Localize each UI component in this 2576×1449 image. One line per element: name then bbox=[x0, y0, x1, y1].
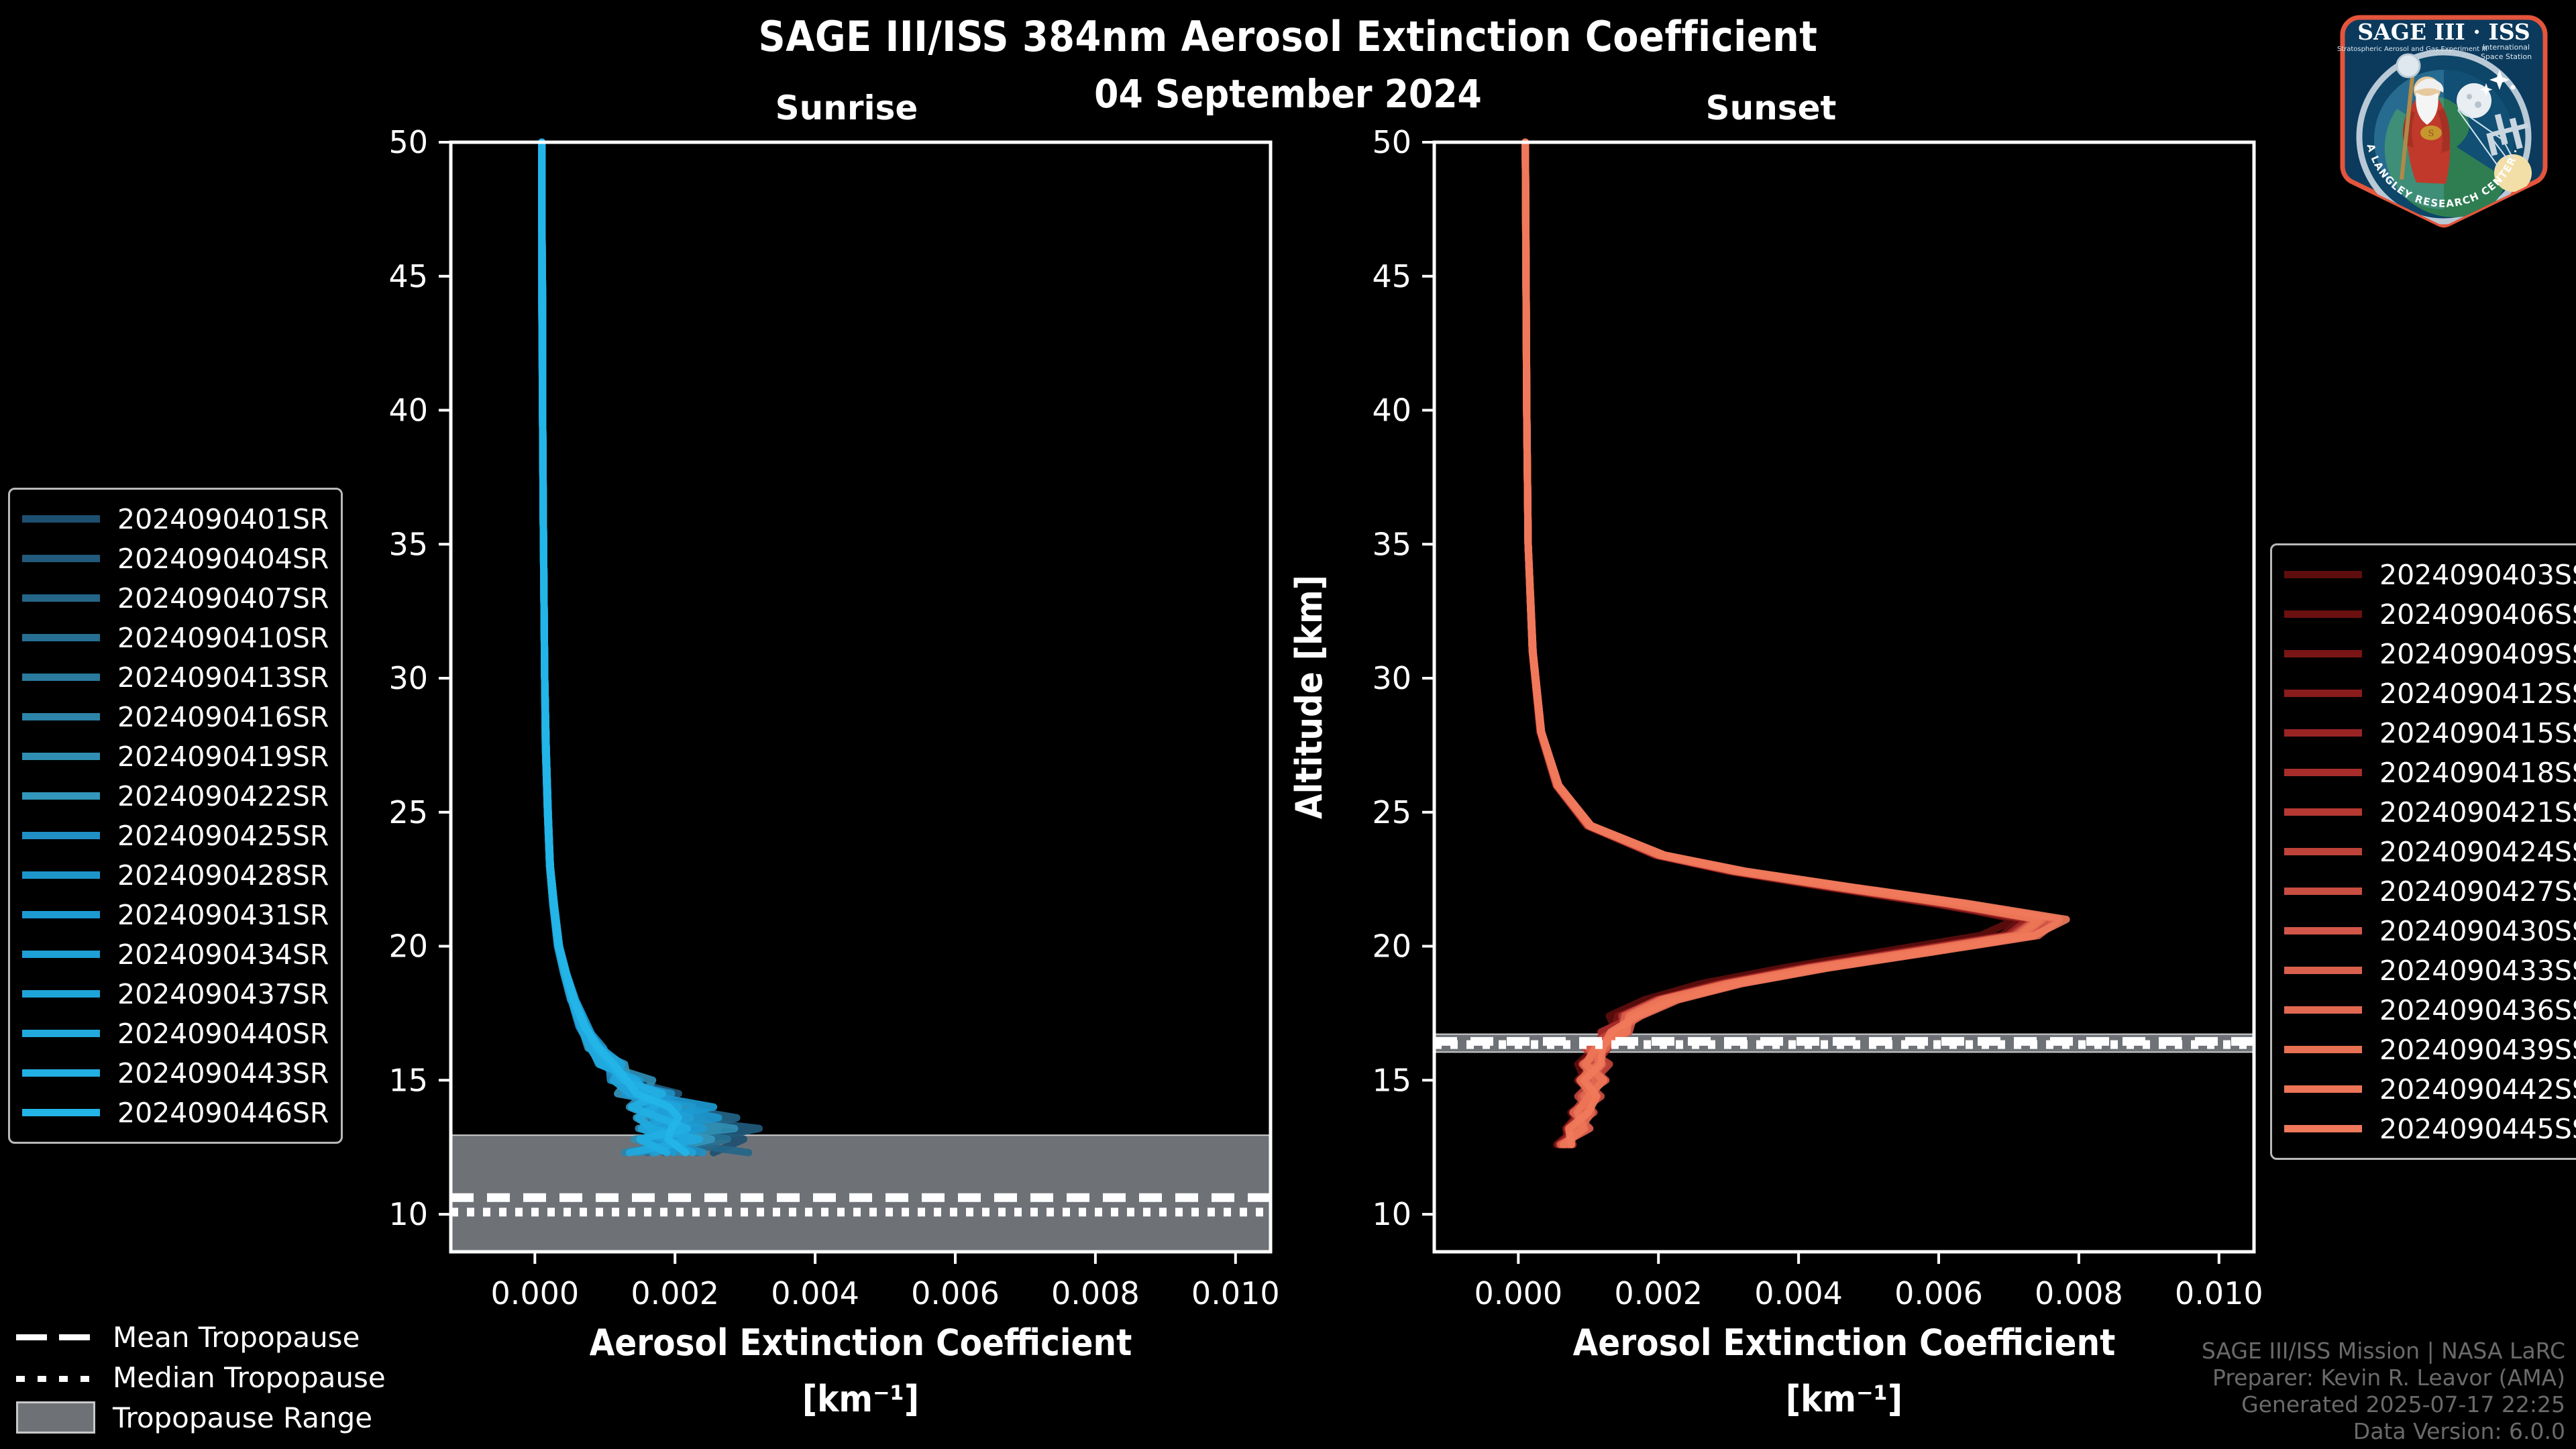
series-color-swatch-icon bbox=[2284, 927, 2362, 934]
dotted-line-icon bbox=[16, 1368, 95, 1386]
series-label: 2024090437SR bbox=[117, 978, 329, 1010]
series-color-swatch-icon bbox=[2284, 729, 2362, 737]
series-label: 2024090415SS bbox=[2379, 717, 2576, 749]
series-label: 2024090413SR bbox=[117, 661, 329, 694]
series-label: 2024090424SS bbox=[2379, 836, 2576, 868]
legend-sunrise-item[interactable]: 2024090416SR bbox=[22, 697, 329, 737]
series-label: 2024090418SS bbox=[2379, 757, 2576, 789]
series-color-swatch-icon bbox=[2284, 769, 2362, 776]
footer-line-preparer: Preparer: Kevin R. Leavor (AMA) bbox=[2202, 1364, 2565, 1391]
legend-sunset-item[interactable]: 2024090403SS bbox=[2284, 555, 2576, 594]
series-color-swatch-icon bbox=[22, 911, 100, 918]
x-axis-unit: [km⁻¹] bbox=[802, 1378, 919, 1420]
legend-sunset-item[interactable]: 2024090409SS bbox=[2284, 634, 2576, 674]
series-label: 2024090409SS bbox=[2379, 638, 2576, 670]
series-color-swatch-icon bbox=[22, 832, 100, 839]
footer-line-mission: SAGE III/ISS Mission | NASA LaRC bbox=[2202, 1338, 2565, 1364]
series-color-swatch-icon bbox=[22, 555, 100, 562]
series-label: 2024090445SS bbox=[2379, 1113, 2576, 1145]
series-label: 2024090406SS bbox=[2379, 598, 2576, 631]
legend-sunset-item[interactable]: 2024090406SS bbox=[2284, 594, 2576, 634]
series-label: 2024090440SR bbox=[117, 1018, 329, 1050]
series-line bbox=[542, 142, 686, 1152]
x-tick-label: 0.006 bbox=[911, 1275, 1000, 1311]
x-tick-label: 0.002 bbox=[631, 1275, 719, 1311]
series-line bbox=[542, 142, 690, 1152]
legend-item-tropopause-range: Tropopause Range bbox=[16, 1397, 386, 1438]
series-color-swatch-icon bbox=[2284, 967, 2362, 974]
legend-sunset-item[interactable]: 2024090421SS bbox=[2284, 792, 2576, 832]
series-color-swatch-icon bbox=[2284, 610, 2362, 618]
legend-sunset-item[interactable]: 2024090445SS bbox=[2284, 1109, 2576, 1148]
series-line bbox=[542, 142, 703, 1152]
y-tick-label: 25 bbox=[388, 794, 428, 830]
legend-sunset[interactable]: 2024090403SS2024090406SS2024090409SS2024… bbox=[2270, 543, 2576, 1160]
x-tick-label: 0.010 bbox=[1191, 1275, 1280, 1311]
legend-label-median: Median Tropopause bbox=[113, 1361, 386, 1394]
series-color-swatch-icon bbox=[22, 951, 100, 958]
x-tick-label: 0.008 bbox=[1051, 1275, 1140, 1311]
series-color-swatch-icon bbox=[2284, 1046, 2362, 1053]
chart-sunrise: 0.0000.0020.0040.0060.0080.0101015202530… bbox=[0, 0, 2576, 1449]
series-line bbox=[542, 142, 688, 1152]
series-color-swatch-icon bbox=[22, 753, 100, 760]
y-tick-label: 30 bbox=[388, 660, 428, 696]
series-color-swatch-icon bbox=[22, 674, 100, 681]
series-label: 2024090442SS bbox=[2379, 1073, 2576, 1106]
series-line bbox=[542, 142, 693, 1152]
x-tick-label: 0.004 bbox=[771, 1275, 859, 1311]
legend-sunset-item[interactable]: 2024090424SS bbox=[2284, 832, 2576, 871]
series-label: 2024090412SS bbox=[2379, 678, 2576, 710]
legend-sunrise-item[interactable]: 2024090443SR bbox=[22, 1053, 329, 1093]
legend-label-range: Tropopause Range bbox=[113, 1401, 372, 1434]
footer-line-generated: Generated 2025-07-17 22:25 bbox=[2202, 1391, 2565, 1418]
logo-brand: SAGE III · ISS bbox=[2357, 19, 2530, 45]
series-color-swatch-icon bbox=[22, 871, 100, 879]
legend-sunrise-item[interactable]: 2024090446SR bbox=[22, 1093, 329, 1132]
series-color-swatch-icon bbox=[2284, 571, 2362, 578]
legend-sunset-item[interactable]: 2024090439SS bbox=[2284, 1030, 2576, 1069]
legend-sunset-item[interactable]: 2024090436SS bbox=[2284, 990, 2576, 1030]
series-color-swatch-icon bbox=[2284, 1125, 2362, 1132]
series-color-swatch-icon bbox=[22, 1109, 100, 1116]
series-color-swatch-icon bbox=[2284, 690, 2362, 697]
series-label: 2024090439SS bbox=[2379, 1034, 2576, 1066]
series-color-swatch-icon bbox=[2284, 808, 2362, 816]
y-tick-label: 20 bbox=[388, 928, 428, 965]
series-color-swatch-icon bbox=[22, 515, 100, 523]
series-label: 2024090430SS bbox=[2379, 915, 2576, 947]
footer-credits: SAGE III/ISS Mission | NASA LaRC Prepare… bbox=[2202, 1338, 2565, 1445]
logo-subtitle-right-2: Space Station bbox=[2481, 52, 2532, 61]
series-label: 2024090427SS bbox=[2379, 875, 2576, 908]
logo-subtitle-left: Stratospheric Aerosol and Gas Experiment… bbox=[2337, 46, 2487, 53]
y-tick-label: 45 bbox=[388, 258, 428, 294]
logo-subtitle-right-1: International bbox=[2483, 43, 2530, 52]
series-color-swatch-icon bbox=[2284, 888, 2362, 895]
series-color-swatch-icon bbox=[2284, 1006, 2362, 1014]
legend-sunrise-item[interactable]: 2024090413SR bbox=[22, 657, 329, 697]
plot-area-sunrise: 0.0000.0020.0040.0060.0080.0101015202530… bbox=[305, 124, 1280, 1420]
tropopause-legend: Mean Tropopause Median Tropopause Tropop… bbox=[16, 1317, 386, 1438]
series-label: 2024090403SS bbox=[2379, 559, 2576, 591]
series-label: 2024090428SR bbox=[117, 859, 329, 892]
legend-sunrise-item[interactable]: 2024090425SR bbox=[22, 816, 329, 855]
sage-iii-iss-logo: S SAGE III · ISS Stratospheric Aerosol a… bbox=[2333, 8, 2555, 229]
series-label: 2024090431SR bbox=[117, 899, 329, 931]
series-label: 2024090433SS bbox=[2379, 955, 2576, 987]
series-label: 2024090434SR bbox=[117, 938, 329, 971]
legend-sunrise-item[interactable]: 2024090419SR bbox=[22, 737, 329, 776]
y-tick-label: 10 bbox=[388, 1196, 428, 1232]
legend-sunrise-item[interactable]: 2024090401SR bbox=[22, 499, 329, 539]
x-tick-label: 0.000 bbox=[490, 1275, 579, 1311]
legend-item-median-tropopause: Median Tropopause bbox=[16, 1357, 386, 1397]
y-tick-label: 35 bbox=[388, 526, 428, 562]
legend-sunset-item[interactable]: 2024090442SS bbox=[2284, 1069, 2576, 1109]
y-tick-label: 15 bbox=[388, 1062, 428, 1098]
range-swatch-icon bbox=[16, 1401, 95, 1434]
series-color-swatch-icon bbox=[22, 990, 100, 998]
legend-sunrise-item[interactable]: 2024090431SR bbox=[22, 895, 329, 934]
legend-sunrise-item[interactable]: 2024090422SR bbox=[22, 776, 329, 816]
series-color-swatch-icon bbox=[22, 713, 100, 720]
series-color-swatch-icon bbox=[22, 792, 100, 800]
series-color-swatch-icon bbox=[22, 1069, 100, 1077]
legend-sunset-item[interactable]: 2024090433SS bbox=[2284, 951, 2576, 990]
series-label: 2024090416SR bbox=[117, 701, 329, 733]
series-label: 2024090425SR bbox=[117, 820, 329, 852]
legend-sunrise[interactable]: 2024090401SR2024090404SR2024090407SR2024… bbox=[8, 488, 343, 1144]
legend-sunrise-item[interactable]: 2024090428SR bbox=[22, 855, 329, 895]
x-axis-title: Aerosol Extinction Coefficient bbox=[590, 1322, 1132, 1364]
plot-frame bbox=[451, 142, 1271, 1252]
series-color-swatch-icon bbox=[2284, 1085, 2362, 1093]
legend-sunset-item[interactable]: 2024090427SS bbox=[2284, 871, 2576, 911]
svg-text:S: S bbox=[2428, 129, 2434, 139]
footer-line-version: Data Version: 6.0.0 bbox=[2202, 1418, 2565, 1445]
y-tick-label: 40 bbox=[388, 392, 428, 429]
series-line bbox=[542, 142, 702, 1152]
legend-sunrise-item[interactable]: 2024090437SR bbox=[22, 974, 329, 1014]
series-label: 2024090436SS bbox=[2379, 994, 2576, 1026]
legend-sunset-item[interactable]: 2024090412SS bbox=[2284, 674, 2576, 713]
legend-sunset-item[interactable]: 2024090418SS bbox=[2284, 753, 2576, 792]
series-color-swatch-icon bbox=[2284, 848, 2362, 855]
y-tick-label: 50 bbox=[388, 124, 428, 160]
series-color-swatch-icon bbox=[2284, 650, 2362, 657]
series-line bbox=[542, 142, 700, 1152]
series-color-swatch-icon bbox=[22, 594, 100, 602]
series-label: 2024090443SR bbox=[117, 1057, 329, 1089]
legend-label-mean: Mean Tropopause bbox=[113, 1321, 360, 1354]
series-label: 2024090421SS bbox=[2379, 796, 2576, 828]
series-color-swatch-icon bbox=[22, 1030, 100, 1037]
legend-sunset-item[interactable]: 2024090430SS bbox=[2284, 911, 2576, 951]
legend-sunrise-item[interactable]: 2024090440SR bbox=[22, 1014, 329, 1053]
series-label: 2024090410SR bbox=[117, 622, 329, 654]
series-label: 2024090419SR bbox=[117, 741, 329, 773]
legend-sunrise-item[interactable]: 2024090404SR bbox=[22, 539, 329, 578]
dashed-line-icon bbox=[16, 1328, 95, 1346]
legend-sunrise-item[interactable]: 2024090407SR bbox=[22, 578, 329, 618]
series-label: 2024090422SR bbox=[117, 780, 329, 812]
series-label: 2024090401SR bbox=[117, 503, 329, 535]
series-color-swatch-icon bbox=[22, 634, 100, 641]
series-label: 2024090404SR bbox=[117, 543, 329, 575]
series-label: 2024090446SR bbox=[117, 1097, 329, 1129]
legend-item-mean-tropopause: Mean Tropopause bbox=[16, 1317, 386, 1357]
legend-sunrise-item[interactable]: 2024090410SR bbox=[22, 618, 329, 657]
legend-sunset-item[interactable]: 2024090415SS bbox=[2284, 713, 2576, 753]
series-label: 2024090407SR bbox=[117, 582, 329, 614]
legend-sunrise-item[interactable]: 2024090434SR bbox=[22, 934, 329, 974]
